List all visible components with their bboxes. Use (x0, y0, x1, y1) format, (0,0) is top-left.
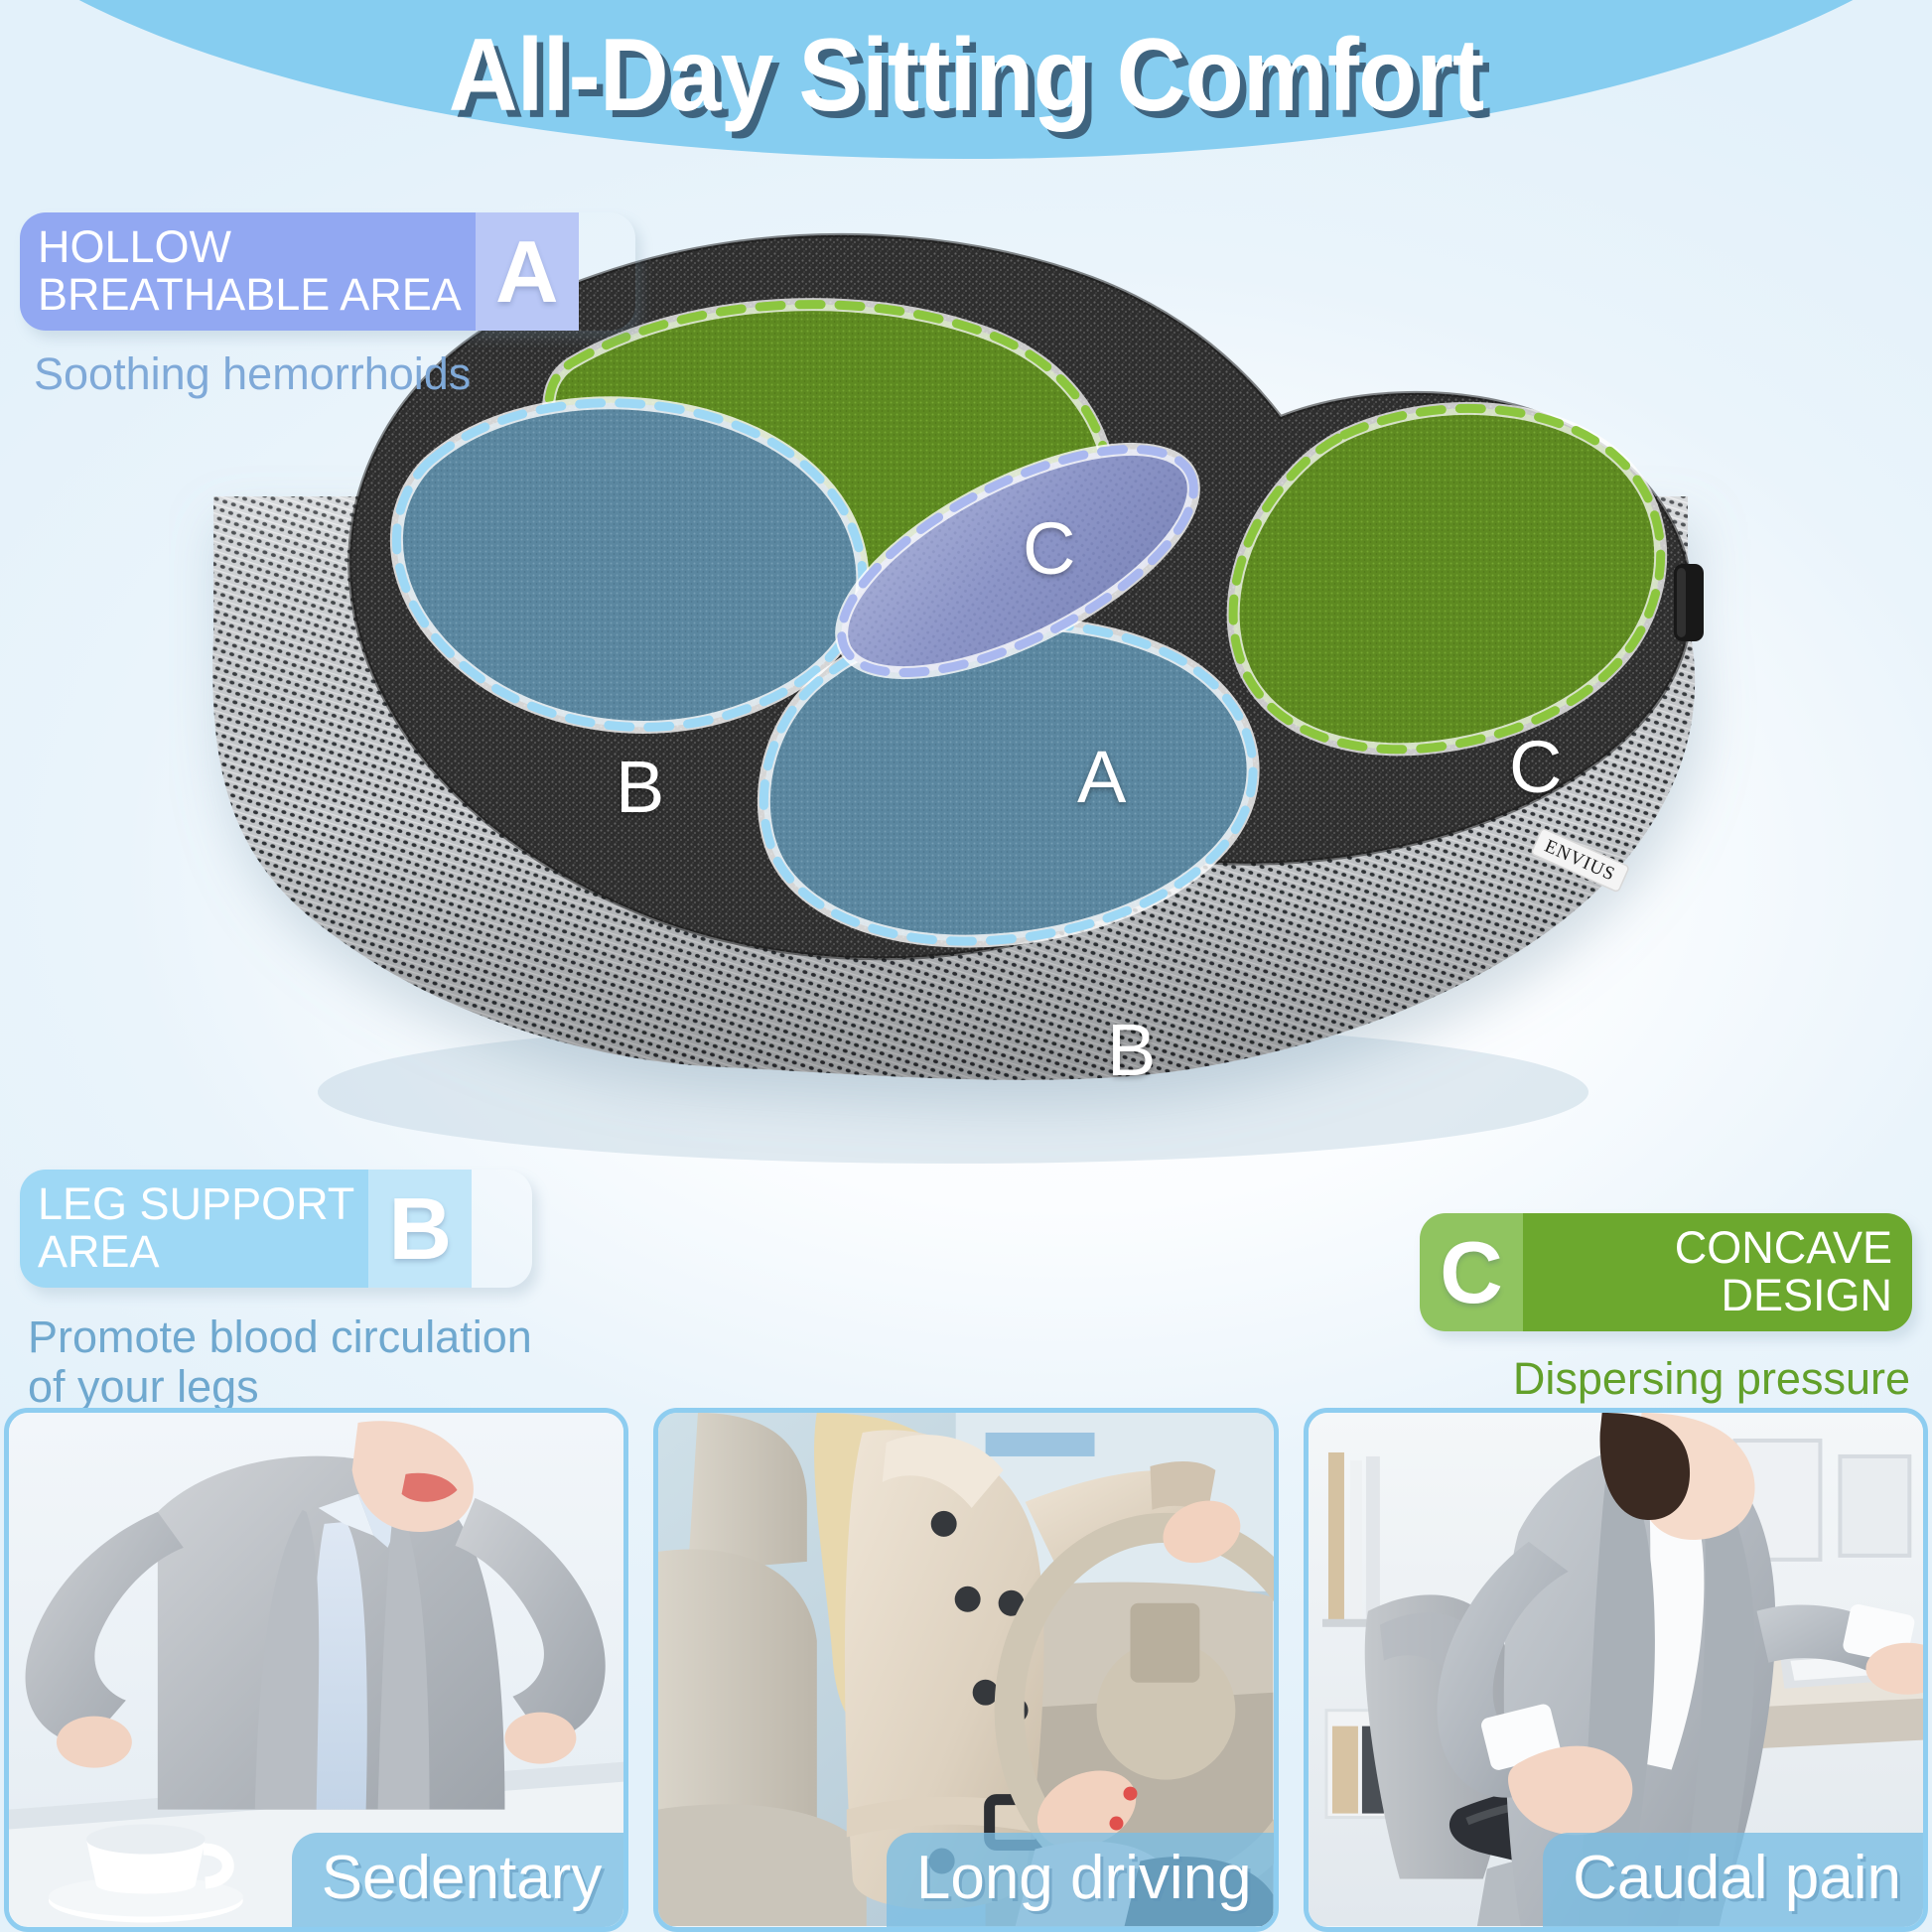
legend-a-subtitle: Soothing hemorrhoids (34, 349, 471, 399)
use-case-photo-strip: Sedentary (0, 1408, 1932, 1932)
photo-caption-long-driving: Long driving (887, 1833, 1274, 1927)
legend-a-title: HOLLOW BREATHABLE AREA (20, 212, 476, 331)
photo-panel-caudal-pain: Caudal pain (1304, 1408, 1928, 1932)
infographic-page: All-Day Sitting Comfort (0, 0, 1932, 1932)
legend-c-subtitle: Dispersing pressure (1513, 1354, 1910, 1404)
photo-caption-caudal-pain: Caudal pain (1543, 1833, 1923, 1927)
photo-panel-long-driving: Long driving (653, 1408, 1278, 1932)
page-title: All-Day Sitting Comfort (68, 0, 1864, 151)
photo-panel-sedentary: Sedentary (4, 1408, 628, 1932)
legend-c-title: CONCAVE DESIGN (1523, 1213, 1912, 1331)
legend-b-subtitle: Promote blood circulation of your legs (28, 1312, 532, 1413)
photo-caption-sedentary: Sedentary (292, 1833, 624, 1927)
legend-badge-hollow-breathable-area: HOLLOW BREATHABLE AREA A (20, 212, 635, 331)
legend-c-letter: C (1420, 1213, 1523, 1331)
legend-b-title: LEG SUPPORT AREA (20, 1170, 368, 1288)
legend-badge-concave-design: C CONCAVE DESIGN (1420, 1213, 1912, 1331)
handle-tab-icon (1674, 564, 1704, 641)
legend-b-letter: B (368, 1170, 472, 1288)
legend-badge-leg-support-area: LEG SUPPORT AREA B (20, 1170, 532, 1288)
legend-a-letter: A (476, 212, 579, 331)
